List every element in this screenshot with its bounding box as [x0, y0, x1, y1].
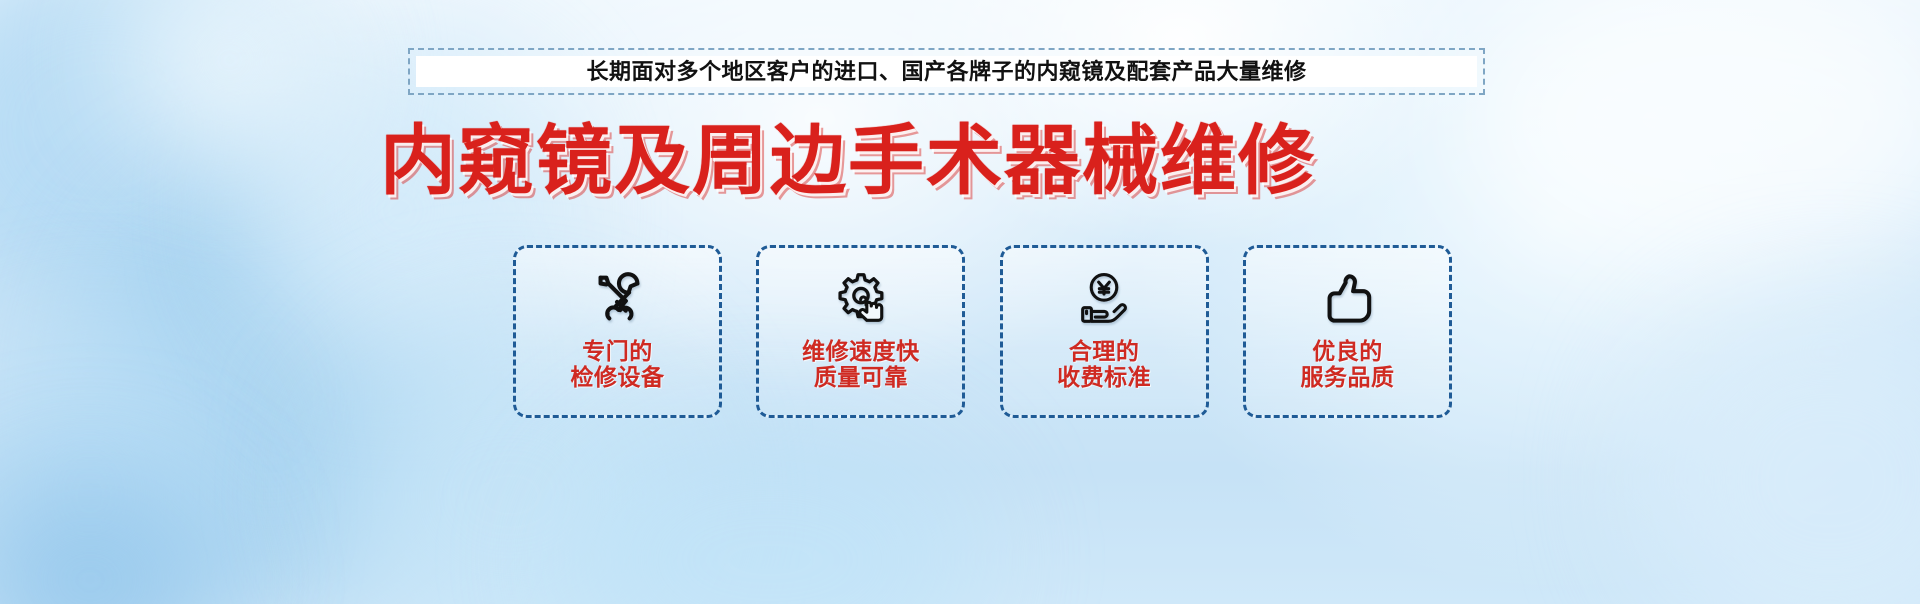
feature-card-line2: 服务品质 [1300, 364, 1394, 390]
feature-card-label: 专门的 检修设备 [571, 338, 665, 390]
feature-card-line1: 合理的 [1069, 338, 1140, 364]
page-title: 内窥镜及周边手术器械维修 [380, 124, 1316, 200]
feature-card-label: 优良的 服务品质 [1300, 338, 1394, 390]
feature-card-label: 维修速度快 质量可靠 [802, 338, 920, 390]
feature-card-equipment[interactable]: 专门的 检修设备 [513, 245, 722, 418]
subtitle-text: 长期面对多个地区客户的进口、国产各牌子的内窥镜及配套产品大量维修 [586, 61, 1306, 83]
hero-banner: 长期面对多个地区客户的进口、国产各牌子的内窥镜及配套产品大量维修 内窥镜及周边手… [0, 0, 1920, 604]
feature-card-list: 专门的 检修设备 [513, 245, 1452, 418]
feature-card-quality[interactable]: 优良的 服务品质 [1243, 245, 1452, 418]
gear-click-icon [828, 266, 894, 332]
feature-card-line1: 专门的 [582, 338, 653, 364]
feature-card-label: 合理的 收费标准 [1057, 338, 1151, 390]
page-title-container: 内窥镜及周边手术器械维修 [0, 116, 1920, 208]
feature-card-line2: 质量可靠 [802, 364, 920, 390]
feature-card-line2: 检修设备 [571, 364, 665, 390]
feature-card-line1: 优良的 [1312, 338, 1383, 364]
subtitle-banner-frame: 长期面对多个地区客户的进口、国产各牌子的内窥镜及配套产品大量维修 [408, 48, 1485, 95]
thumbs-up-icon [1314, 266, 1380, 332]
feature-card-line2: 收费标准 [1057, 364, 1151, 390]
feature-card-line1: 维修速度快 [802, 338, 920, 364]
feature-card-speed[interactable]: 维修速度快 质量可靠 [756, 245, 965, 418]
feature-card-pricing[interactable]: 合理的 收费标准 [1000, 245, 1209, 418]
subtitle-banner-inner: 长期面对多个地区客户的进口、国产各牌子的内窥镜及配套产品大量维修 [416, 56, 1477, 87]
screwdriver-wrench-icon [585, 266, 651, 332]
hand-yuan-coin-icon [1071, 266, 1137, 332]
